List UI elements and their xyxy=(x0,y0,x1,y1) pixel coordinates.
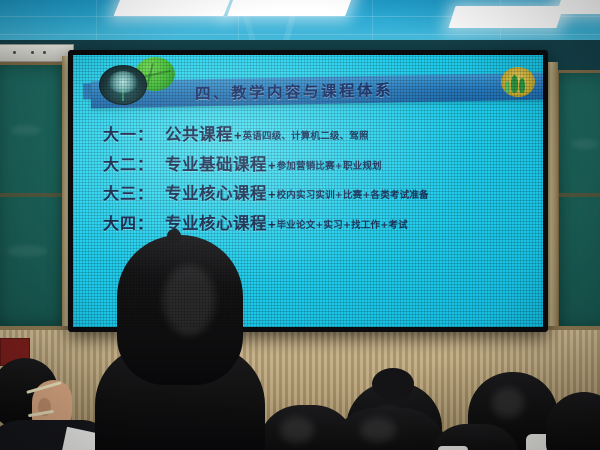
slide-line: 大三： 专业核心课程 + 校内实习实训+比赛+各类考试准备 xyxy=(103,180,523,204)
chalk-smudge xyxy=(571,139,599,149)
course-type: 专业基础课程 xyxy=(165,151,267,175)
hair-highlight xyxy=(360,418,396,442)
plus-sign: + xyxy=(267,217,277,232)
plant-blade xyxy=(505,81,510,93)
year-label: 大三： xyxy=(103,180,165,204)
rail-dot-icon xyxy=(31,51,34,54)
leaf-vein xyxy=(141,70,171,78)
ceiling-seam xyxy=(0,34,600,35)
plant-blade xyxy=(519,78,525,93)
course-detail: 毕业论文+实习+找工作+考试 xyxy=(277,217,408,231)
year-label: 大二： xyxy=(103,151,165,175)
course-detail: 英语四级、计算机二级、驾照 xyxy=(243,128,369,142)
chalkboard-divider xyxy=(559,193,600,197)
chalk-smudge xyxy=(7,245,47,257)
course-type: 专业核心课程 xyxy=(165,180,267,204)
student-far-right xyxy=(546,392,600,450)
classroom-scene: 四、教学内容与课程体系 大一： 公共课程 xyxy=(0,0,600,450)
plus-sign: + xyxy=(267,187,277,202)
ceiling-light-icon xyxy=(448,6,563,28)
student-bottom-right xyxy=(430,424,520,450)
hair xyxy=(546,392,600,450)
plus-sign: + xyxy=(233,128,243,143)
course-type: 专业核心课程 xyxy=(165,210,267,234)
slide-title: 四、教学内容与课程体系 xyxy=(195,76,525,106)
course-type: 公共课程 xyxy=(165,121,233,145)
rail-dot-icon xyxy=(43,51,46,54)
slide-body: 大一： 公共课程 + 英语四级、计算机二级、驾照 大二： 专业基础课程 + 参加… xyxy=(103,121,523,239)
hair-highlight xyxy=(492,388,524,418)
dandelion-photo-icon xyxy=(99,65,147,105)
ceiling-light-icon xyxy=(114,0,233,16)
hair-tuft xyxy=(167,229,181,243)
student-left-with-glasses xyxy=(0,358,102,450)
hair xyxy=(117,235,243,385)
plant-blade xyxy=(511,75,518,93)
slide-line: 大四： 专业核心课程 + 毕业论文+实习+找工作+考试 xyxy=(103,210,523,234)
slide-line: 大二： 专业基础课程 + 参加营销比赛+职业规划 xyxy=(103,151,523,175)
chalkboard-left xyxy=(0,62,70,330)
hair-highlight xyxy=(163,265,215,335)
plus-sign: + xyxy=(267,158,277,173)
year-label: 大四： xyxy=(103,210,165,234)
hair-highlight xyxy=(280,417,314,443)
student-foreground-center xyxy=(95,235,265,450)
hair-bun xyxy=(372,368,414,400)
yellow-plant-icon xyxy=(501,67,535,97)
collar xyxy=(438,446,468,450)
chalk-smudge xyxy=(11,125,41,135)
year-label: 大一： xyxy=(103,121,165,145)
ceiling-light-icon xyxy=(556,0,600,14)
course-detail: 参加营销比赛+职业规划 xyxy=(277,158,382,172)
course-detail: 校内实习实训+比赛+各类考试准备 xyxy=(277,187,429,201)
dandelion-head xyxy=(108,71,138,93)
slide-line: 大一： 公共课程 + 英语四级、计算机二级、驾照 xyxy=(103,121,523,145)
rail-dot-icon xyxy=(13,51,16,54)
chalkboard-right xyxy=(556,70,600,334)
ceiling-light-icon xyxy=(227,0,354,16)
chalkboard-divider xyxy=(0,193,67,197)
